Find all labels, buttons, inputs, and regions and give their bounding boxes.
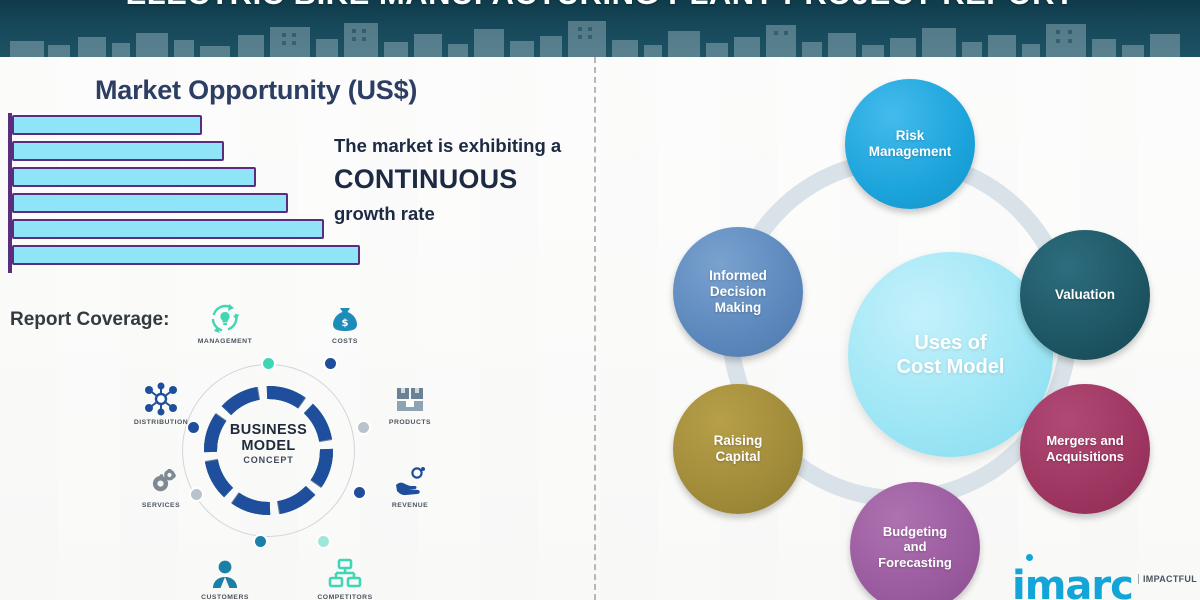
wheel-node — [261, 356, 276, 371]
coverage-item-label: COSTS — [302, 338, 388, 345]
chart-bar — [12, 141, 224, 161]
bubble-line1: Raising — [714, 433, 763, 449]
coverage-item-distribution[interactable]: DISTRIBUTION — [118, 382, 204, 426]
bubble-risk-management[interactable]: Risk Management — [845, 79, 975, 209]
bubble-budgeting-and-forecasting[interactable]: Budgeting and Forecasting — [850, 482, 980, 600]
content-area: Market Opportunity (US$) The market is e… — [0, 57, 1200, 600]
coverage-item-label: REVENUE — [367, 502, 453, 509]
wheel-node — [253, 534, 268, 549]
growth-note-line1: The market is exhibiting a — [334, 134, 584, 157]
coverage-item-services[interactable]: SERVICES — [118, 465, 204, 509]
bubble-line1: Valuation — [1055, 287, 1115, 303]
coverage-item-label: PRODUCTS — [367, 419, 453, 426]
page-header: ELECTRIC BIKE MANUFACTURING PLANT PROJEC… — [0, 0, 1200, 57]
logo-dot-icon — [1026, 554, 1033, 561]
chart-bar — [12, 115, 202, 135]
logo-tagline: IMPACTFUL — [1138, 574, 1197, 584]
user-person-icon — [208, 557, 242, 591]
growth-note: The market is exhibiting a CONTINUOUS gr… — [334, 134, 584, 225]
bubble-line2: Management — [869, 144, 952, 160]
bubble-text: Informed Decision Making — [709, 268, 767, 317]
business-model-wheel: BUSINESS MODEL CONCEPT MANAGEMENT — [120, 302, 465, 600]
chart-bar — [12, 245, 360, 265]
bubble-text: Valuation — [1055, 287, 1115, 303]
coverage-item-products[interactable]: PRODUCTS — [367, 382, 453, 426]
bubble-line2: and — [878, 539, 952, 555]
bubble-raising-capital[interactable]: Raising Capital — [673, 384, 803, 514]
org-chart-icon — [328, 557, 362, 591]
coverage-item-management[interactable]: MANAGEMENT — [182, 301, 268, 345]
gears-icon — [144, 465, 178, 499]
bm-line1: BUSINESS — [181, 423, 356, 439]
bubble-line3: Forecasting — [878, 555, 952, 571]
market-opportunity-title: Market Opportunity (US$) — [95, 75, 417, 106]
svg-text:$: $ — [342, 318, 349, 329]
coverage-item-customers[interactable]: CUSTOMERS — [182, 557, 268, 600]
bubble-valuation[interactable]: Valuation — [1020, 230, 1150, 360]
bm-line3: CONCEPT — [181, 456, 356, 466]
coverage-item-label: MANAGEMENT — [182, 338, 268, 345]
chart-bar — [12, 193, 288, 213]
coverage-item-competitors[interactable]: COMPETITORS — [302, 557, 388, 600]
center-line1: Uses of — [897, 331, 1005, 355]
coverage-item-label: SERVICES — [118, 502, 204, 509]
bubble-line2: Decision — [709, 284, 767, 300]
center-bubble-text: Uses of Cost Model — [897, 331, 1005, 379]
bubble-text: Budgeting and Forecasting — [878, 524, 952, 571]
money-bag-icon: $ — [328, 301, 362, 335]
growth-note-line3: growth rate — [334, 203, 584, 225]
network-nodes-icon — [144, 382, 178, 416]
coverage-item-label: CUSTOMERS — [182, 594, 268, 600]
bm-line2: MODEL — [181, 439, 356, 455]
bubble-line2: Acquisitions — [1046, 449, 1124, 465]
coverage-item-revenue[interactable]: REVENUE — [367, 465, 453, 509]
bubble-line1: Mergers and — [1046, 433, 1124, 449]
bubble-mergers-and-acquisitions[interactable]: Mergers and Acquisitions — [1020, 384, 1150, 514]
boxes-icon — [393, 382, 427, 416]
center-line2: Cost Model — [897, 355, 1005, 379]
bubble-text: Risk Management — [869, 128, 952, 160]
market-opportunity-bar-chart — [8, 113, 378, 273]
wheel-node — [323, 356, 338, 371]
bubble-text: Mergers and Acquisitions — [1046, 433, 1124, 464]
city-skyline-silhouette — [0, 15, 1200, 57]
bubble-line3: Making — [709, 300, 767, 316]
business-model-ring: BUSINESS MODEL CONCEPT — [181, 363, 356, 538]
wheel-node — [352, 485, 367, 500]
panel-divider — [594, 57, 596, 600]
page-title: ELECTRIC BIKE MANUFACTURING PLANT PROJEC… — [0, 0, 1200, 12]
bubble-text: Raising Capital — [714, 433, 763, 465]
bubble-informed-decision-making[interactable]: Informed Decision Making — [673, 227, 803, 357]
bubble-line1: Risk — [869, 128, 952, 144]
imarc-logo[interactable]: imarc IMPACTFUL — [1012, 552, 1197, 600]
bubble-line2: Capital — [714, 449, 763, 465]
chart-bar — [12, 167, 256, 187]
hand-coin-icon — [393, 465, 427, 499]
business-model-label: BUSINESS MODEL CONCEPT — [181, 423, 356, 466]
bubble-line1: Budgeting — [878, 524, 952, 540]
coverage-item-costs[interactable]: $ COSTS — [302, 301, 388, 345]
logo-wordmark: imarc — [1012, 563, 1133, 600]
growth-note-line2: CONTINUOUS — [334, 164, 584, 195]
recycle-lightbulb-icon — [208, 301, 242, 335]
uses-of-cost-model-diagram: Uses of Cost Model Risk Management Valua… — [600, 57, 1200, 600]
chart-bar — [12, 219, 324, 239]
bubble-line1: Informed — [709, 268, 767, 284]
wheel-node — [316, 534, 331, 549]
coverage-item-label: COMPETITORS — [302, 594, 388, 600]
coverage-item-label: DISTRIBUTION — [118, 419, 204, 426]
